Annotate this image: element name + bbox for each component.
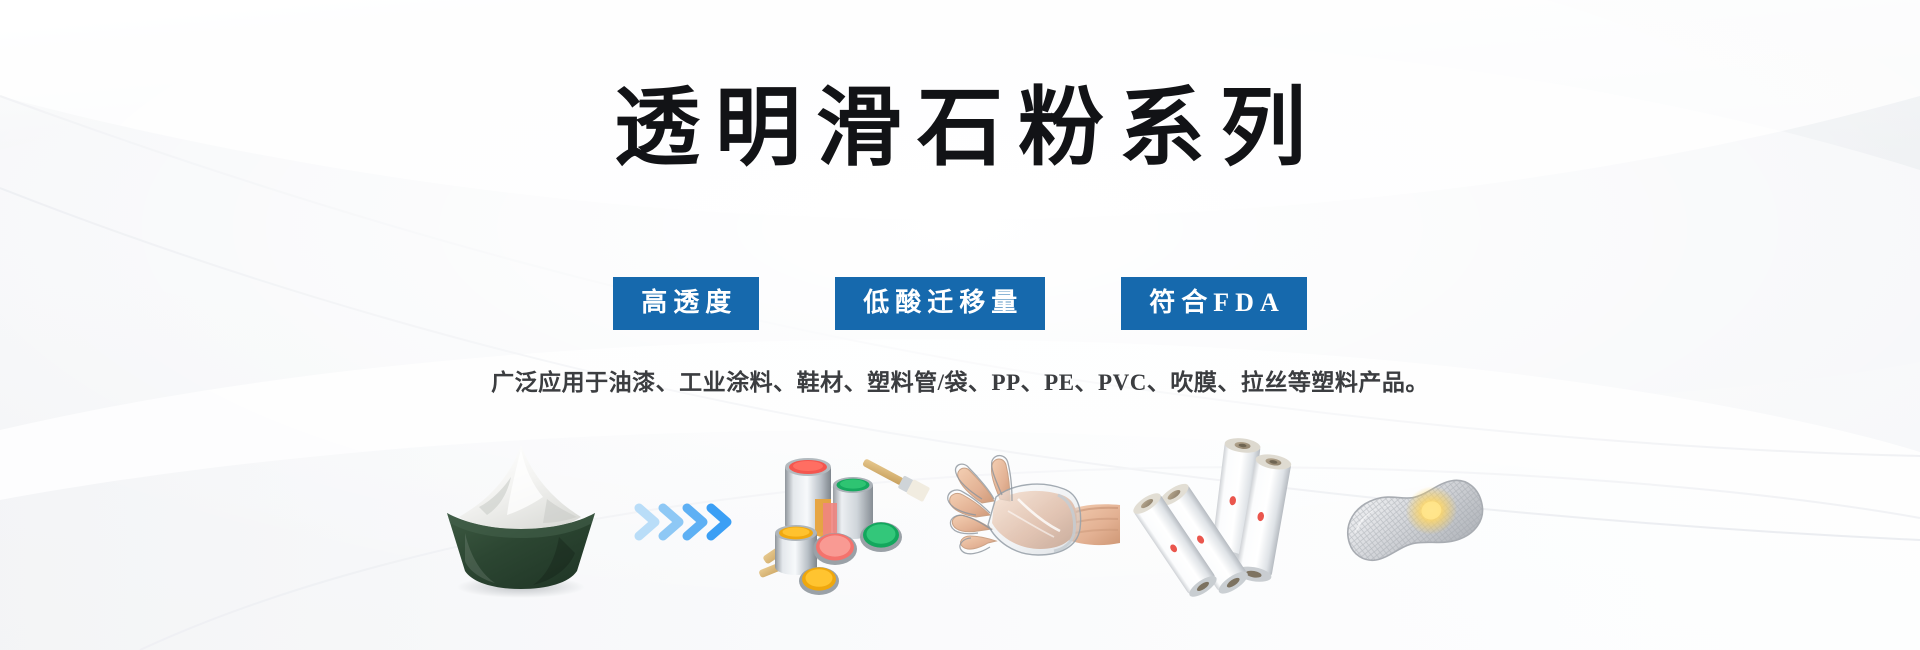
application-description: 广泛应用于油漆、工业涂料、鞋材、塑料管/袋、PP、PE、PVC、吹膜、拉丝等塑料… <box>491 363 1429 397</box>
process-arrows-icon: 箭头 <box>631 437 741 607</box>
paint-cans-image: 油漆涂料 <box>757 437 932 607</box>
film-rolls-image: 吹膜卷材 <box>1139 437 1314 607</box>
feature-badge-row: 高透度 低酸迁移量 符合FDA <box>0 277 1920 330</box>
description-container: 广泛应用于油漆、工业涂料、鞋材、塑料管/袋、PP、PE、PVC、吹膜、拉丝等塑料… <box>0 363 1920 397</box>
talc-powder-bowl-image: 滑石粉 <box>425 437 615 607</box>
page-title: 透明滑石粉系列 <box>599 82 1321 175</box>
product-image-strip: 滑石粉 <box>0 432 1920 612</box>
badge-fda-compliant[interactable]: 符合FDA <box>1121 277 1306 330</box>
headline-container: 透明滑石粉系列 <box>0 82 1920 175</box>
plastic-glove-image: 塑料手套 <box>948 437 1123 607</box>
badge-high-transparency[interactable]: 高透度 <box>613 277 759 330</box>
shoe-sole-image: 鞋材鞋底 <box>1330 437 1495 607</box>
product-banner: 透明滑石粉系列 高透度 低酸迁移量 符合FDA 广泛应用于油漆、工业涂料、鞋材、… <box>0 0 1920 650</box>
badge-low-acid-migration[interactable]: 低酸迁移量 <box>835 277 1045 330</box>
